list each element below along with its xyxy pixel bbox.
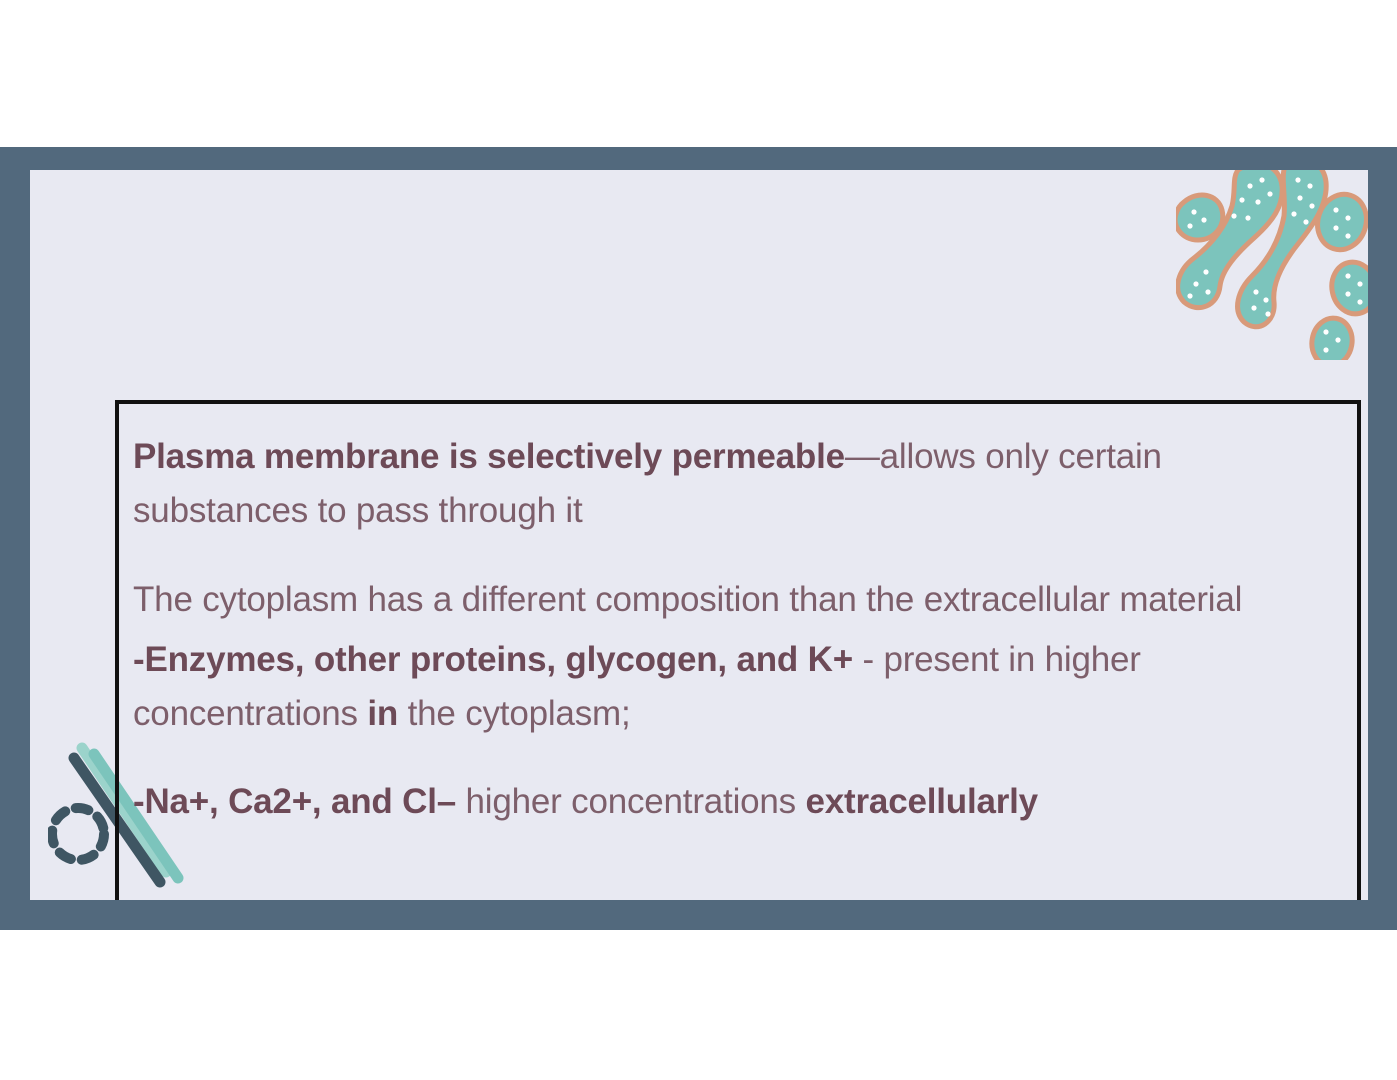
slide-panel: Plasma membrane is selectively permeable… [30,170,1368,900]
paragraph4-mid: higher concentrations [456,782,806,821]
paragraph3-tail: the cytoplasm; [398,694,630,733]
paragraph-extracellular-solutes: -Na+, Ca2+, and Cl– higher concentration… [133,775,1343,829]
paragraph-selective-permeability: Plasma membrane is selectively permeable… [133,430,1343,539]
paragraph2-text: The cytoplasm has a different compositio… [133,580,1242,619]
blob-decoration-icon [1176,170,1368,360]
paragraph-intracellular-solutes: -Enzymes, other proteins, glycogen, and … [133,633,1343,742]
content-box: Plasma membrane is selectively permeable… [115,400,1361,900]
slide-frame: Plasma membrane is selectively permeable… [0,147,1397,930]
spacer-1 [133,539,1343,573]
spacer-3 [133,741,1343,775]
paragraph3-bold-mid: in [367,694,398,733]
paragraph3-bold-lead: -Enzymes, other proteins, glycogen, and … [133,640,853,679]
paragraph1-bold-lead: Plasma membrane is selectively permeable [133,437,845,476]
paragraph4-bold-lead: -Na+, Ca2+, and Cl– [133,782,456,821]
paragraph4-bold-tail: extracellularly [806,782,1038,821]
paragraph-cytoplasm-composition: The cytoplasm has a different compositio… [133,573,1343,627]
